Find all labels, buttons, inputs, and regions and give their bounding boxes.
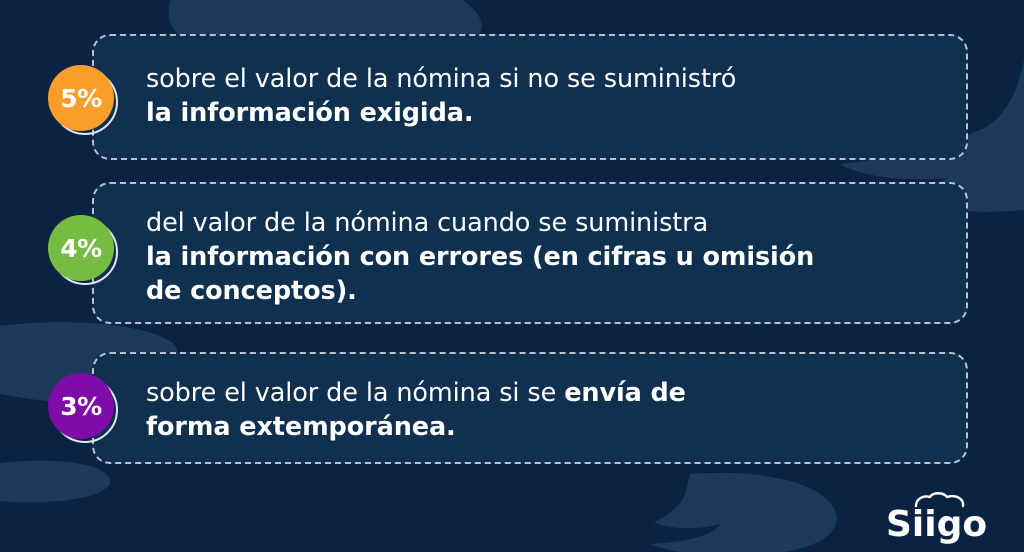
badge-disc: 4% [48,215,114,281]
penalty-card: sobre el valor de la nómina si no se sum… [92,34,968,160]
text-line-emphasis: la información con errores (en cifras u … [146,242,814,272]
text-line-emphasis: la información exigida. [146,98,473,128]
siigo-wordmark: Siigo [886,504,987,544]
percentage-badge: 3% [48,373,118,443]
infographic-canvas: sobre el valor de la nómina si no se sum… [0,0,1024,552]
text-line: del valor de la nómina cuando se suminis… [146,208,708,238]
text-line-emphasis: envía de [564,378,686,408]
penalty-card: sobre el valor de la nómina si se envía … [92,352,968,464]
badge-disc: 5% [48,65,114,131]
text-line: sobre el valor de la nómina si se [146,378,564,408]
badge-label: 3% [60,392,101,421]
percentage-badge: 4% [48,215,118,285]
badge-disc: 3% [48,373,114,439]
penalty-description: del valor de la nómina cuando se suminis… [146,206,940,308]
penalty-card: del valor de la nómina cuando se suminis… [92,182,968,324]
siigo-logo: Siigo [886,492,990,544]
text-line-emphasis: forma extemporánea. [146,412,456,442]
penalty-description: sobre el valor de la nómina si no se sum… [146,62,940,130]
percentage-badge: 5% [48,65,118,135]
text-line: sobre el valor de la nómina si no se sum… [146,64,736,94]
penalty-description: sobre el valor de la nómina si se envía … [146,376,940,444]
badge-label: 4% [60,234,101,263]
badge-label: 5% [60,84,101,113]
text-line-emphasis: de conceptos). [146,276,357,306]
